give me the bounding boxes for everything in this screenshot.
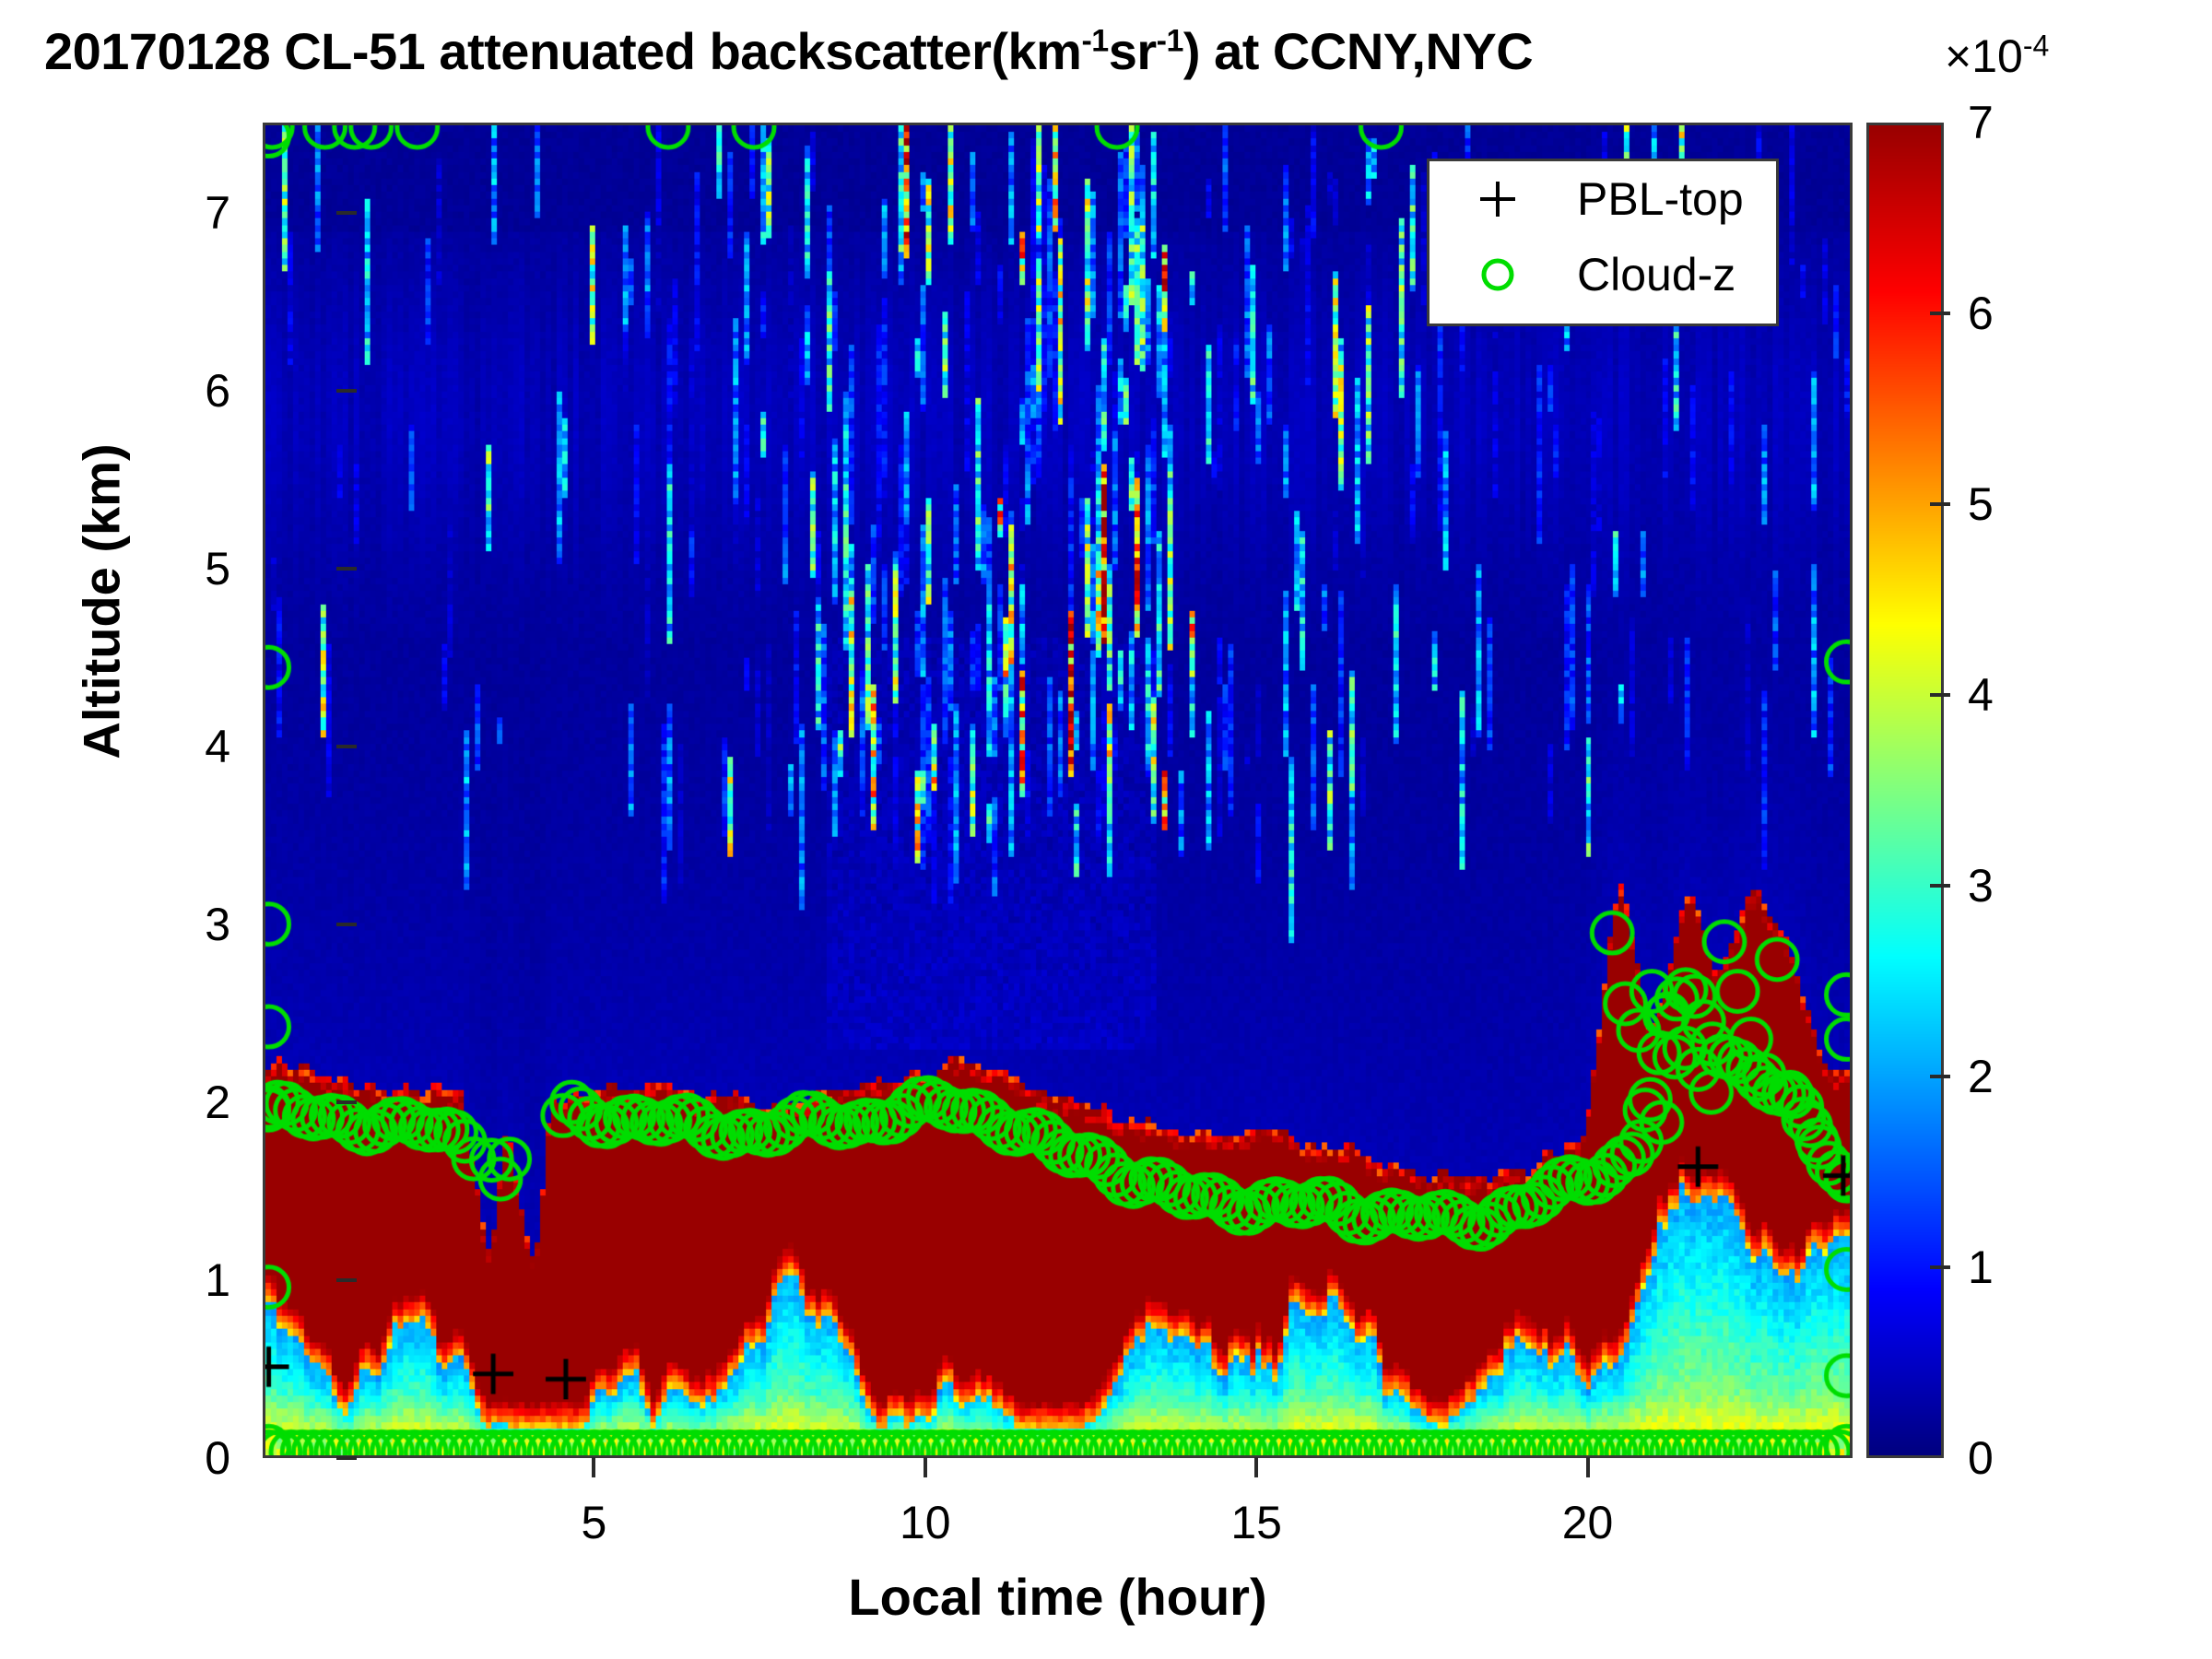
legend-label-cloud-z: Cloud-z	[1577, 248, 1735, 301]
title-superscript-1: -1	[1081, 23, 1108, 58]
y-tick-label: 4	[111, 724, 230, 770]
title-text-main: 20170128 CL-51 attenuated backscatter(km	[44, 22, 1081, 80]
x-tick-label: 5	[581, 1500, 606, 1546]
x-axis-label: Local time (hour)	[263, 1567, 1853, 1627]
y-tick	[336, 1100, 357, 1104]
title-text-mid: sr	[1109, 22, 1157, 80]
plus-icon	[1475, 176, 1521, 222]
y-tick-label: 6	[111, 368, 230, 414]
colorbar-exponent-label: ×10-4	[1945, 29, 2049, 83]
colorbar-exponent-power: -4	[2023, 29, 2049, 62]
y-tick	[336, 567, 357, 571]
colorbar-tick	[1930, 884, 1950, 888]
title-text-tail: ) at CCNY,NYC	[1183, 22, 1533, 80]
legend-label-pbl-top: PBL-top	[1577, 172, 1744, 226]
y-tick	[336, 1456, 357, 1460]
circle-icon	[1475, 252, 1521, 298]
y-tick-label: 0	[111, 1435, 230, 1481]
y-tick	[336, 389, 357, 393]
y-tick	[336, 923, 357, 926]
x-tick-label: 10	[900, 1500, 951, 1546]
colorbar-tick-label: 7	[1968, 100, 1994, 146]
figure-title: 20170128 CL-51 attenuated backscatter(km…	[44, 26, 1533, 77]
legend-item-cloud-z[interactable]: Cloud-z	[1430, 237, 1776, 312]
colorbar-tick-label: 3	[1968, 863, 1994, 909]
y-tick	[336, 1278, 357, 1282]
colorbar-tick-label: 0	[1968, 1435, 1994, 1481]
y-tick-label: 5	[111, 546, 230, 592]
colorbar-gradient	[1869, 125, 1941, 1455]
colorbar-tick	[1930, 312, 1950, 315]
colorbar-tick-label: 6	[1968, 290, 1994, 336]
colorbar-tick	[1930, 1265, 1950, 1269]
colorbar[interactable]	[1866, 123, 1944, 1458]
colorbar-tick	[1930, 502, 1950, 506]
y-tick-label: 7	[111, 190, 230, 236]
legend-box[interactable]: PBL-top Cloud-z	[1427, 159, 1779, 326]
legend-item-pbl-top[interactable]: PBL-top	[1430, 161, 1776, 237]
x-tick	[1586, 1457, 1590, 1477]
colorbar-tick-label: 5	[1968, 481, 1994, 527]
colorbar-tick-label: 4	[1968, 672, 1994, 718]
x-tick	[1254, 1457, 1258, 1477]
y-tick	[336, 745, 357, 748]
y-tick-label: 2	[111, 1079, 230, 1125]
y-tick-label: 1	[111, 1257, 230, 1303]
x-tick	[592, 1457, 595, 1477]
y-tick-label: 3	[111, 901, 230, 947]
x-tick-label: 20	[1562, 1500, 1614, 1546]
colorbar-tick-label: 2	[1968, 1053, 1994, 1100]
colorbar-tick	[1930, 693, 1950, 697]
title-superscript-2: -1	[1157, 23, 1183, 58]
colorbar-tick	[1930, 1075, 1950, 1078]
x-tick	[924, 1457, 927, 1477]
colorbar-exponent-base: ×10	[1945, 30, 2023, 82]
y-tick	[336, 211, 357, 215]
colorbar-tick-label: 1	[1968, 1244, 1994, 1290]
figure-canvas: 20170128 CL-51 attenuated backscatter(km…	[0, 0, 2212, 1659]
x-tick-label: 15	[1230, 1500, 1282, 1546]
